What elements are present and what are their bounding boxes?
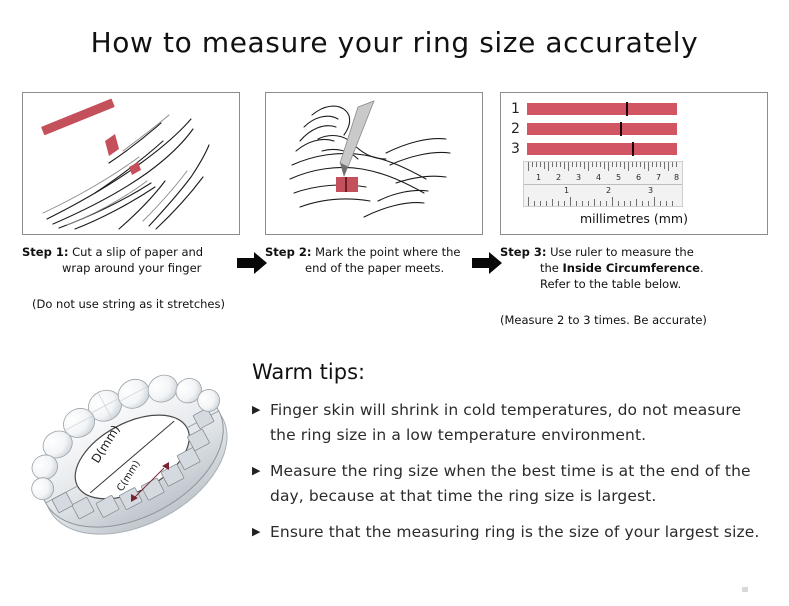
step-2-line1: Mark the point where the bbox=[315, 245, 460, 259]
strip-number: 3 bbox=[511, 142, 527, 156]
tip-item: ▶ Ensure that the measuring ring is the … bbox=[252, 520, 762, 545]
step-3-caption: Step 3: Use ruler to measure the the Ins… bbox=[500, 244, 768, 292]
step-3-note: (Measure 2 to 3 times. Be accurate) bbox=[500, 312, 768, 328]
step-1-line2: wrap around your finger bbox=[22, 260, 240, 276]
strip-row: 2 bbox=[511, 121, 677, 137]
step-2-caption: Step 2: Mark the point where the end of … bbox=[265, 244, 483, 276]
step-3-line2-suffix: . bbox=[700, 261, 704, 275]
step-2-panel bbox=[265, 92, 483, 235]
tip-item: ▶ Measure the ring size when the best ti… bbox=[252, 459, 762, 509]
ruler-bottom-number: 1 bbox=[564, 187, 569, 195]
flow-arrow-1 bbox=[237, 252, 267, 274]
ruler-top-number: 3 bbox=[576, 174, 581, 182]
tip-text: Finger skin will shrink in cold temperat… bbox=[270, 398, 762, 448]
tip-text: Measure the ring size when the best time… bbox=[270, 459, 762, 509]
paper-strips-group: 1 2 3 bbox=[511, 101, 677, 161]
step-3-line2-prefix: the bbox=[540, 261, 563, 275]
hand-marking-paper-illustration bbox=[266, 93, 482, 234]
strip-row: 1 bbox=[511, 101, 677, 117]
step-1-line1: Cut a slip of paper and bbox=[72, 245, 203, 259]
step-3-line2: the Inside Circumference. bbox=[500, 260, 768, 276]
step-1-note: (Do not use string as it stretches) bbox=[22, 296, 240, 312]
strip-mark bbox=[626, 102, 628, 116]
step-column-1: Step 1: Cut a slip of paper and wrap aro… bbox=[22, 92, 240, 312]
strip-number: 1 bbox=[511, 102, 527, 116]
ruler-top-number: 4 bbox=[596, 174, 601, 182]
step-2-line2: end of the paper meets. bbox=[265, 260, 483, 276]
hand-with-paper-strip-illustration bbox=[23, 93, 239, 234]
bottom-area: D(mm) C(mm) Warm tips: ▶ Finger skin wil… bbox=[0, 348, 789, 606]
step-3-line2-emphasis: Inside Circumference bbox=[563, 261, 700, 275]
strip-row: 3 bbox=[511, 141, 677, 157]
strip-bar bbox=[527, 123, 677, 135]
strip-number: 2 bbox=[511, 122, 527, 136]
bullet-triangle-icon: ▶ bbox=[252, 459, 270, 483]
ruler-graphic: 1 2 3 4 5 6 7 8 bbox=[523, 161, 683, 207]
strip-bar bbox=[527, 103, 677, 115]
strip-mark bbox=[632, 142, 634, 156]
bullet-triangle-icon: ▶ bbox=[252, 398, 270, 422]
step-3-panel: 1 2 3 bbox=[500, 92, 768, 235]
step-1-panel bbox=[22, 92, 240, 235]
ruler-top-number: 7 bbox=[656, 174, 661, 182]
ruler-top-number: 8 bbox=[674, 174, 679, 182]
strip-bar bbox=[527, 143, 677, 155]
ruler-top-number: 6 bbox=[636, 174, 641, 182]
tip-text: Ensure that the measuring ring is the si… bbox=[270, 520, 759, 545]
tip-item: ▶ Finger skin will shrink in cold temper… bbox=[252, 398, 762, 448]
steps-row: Step 1: Cut a slip of paper and wrap aro… bbox=[0, 92, 789, 342]
warm-tips-block: Warm tips: ▶ Finger skin will shrink in … bbox=[252, 360, 762, 556]
step-1-label: Step 1: bbox=[22, 245, 68, 259]
ruler-bottom-number: 2 bbox=[606, 187, 611, 195]
step-3-line3: Refer to the table below. bbox=[500, 276, 768, 292]
step-column-2: Step 2: Mark the point where the end of … bbox=[265, 92, 483, 276]
ruler-top-number: 2 bbox=[556, 174, 561, 182]
ruler-scale-top: 1 2 3 4 5 6 7 8 bbox=[524, 162, 682, 185]
ruler-scale-bottom: 1 2 3 bbox=[524, 184, 682, 206]
step-3-line1: Use ruler to measure the bbox=[550, 245, 694, 259]
ruler-top-number: 5 bbox=[616, 174, 621, 182]
strip-mark bbox=[620, 122, 622, 136]
ruler-bottom-number: 3 bbox=[648, 187, 653, 195]
warm-tips-title: Warm tips: bbox=[252, 360, 762, 384]
step-column-3: 1 2 3 bbox=[500, 92, 768, 328]
corner-artifact bbox=[742, 587, 748, 592]
step-3-label: Step 3: bbox=[500, 245, 546, 259]
ruler-unit-label: millimetres (mm) bbox=[501, 211, 767, 226]
step-2-label: Step 2: bbox=[265, 245, 311, 259]
page-title: How to measure your ring size accurately bbox=[0, 26, 789, 59]
bullet-triangle-icon: ▶ bbox=[252, 520, 270, 544]
step-1-caption: Step 1: Cut a slip of paper and wrap aro… bbox=[22, 244, 240, 276]
ruler-top-number: 1 bbox=[536, 174, 541, 182]
ring-diagram: D(mm) C(mm) bbox=[26, 356, 246, 571]
